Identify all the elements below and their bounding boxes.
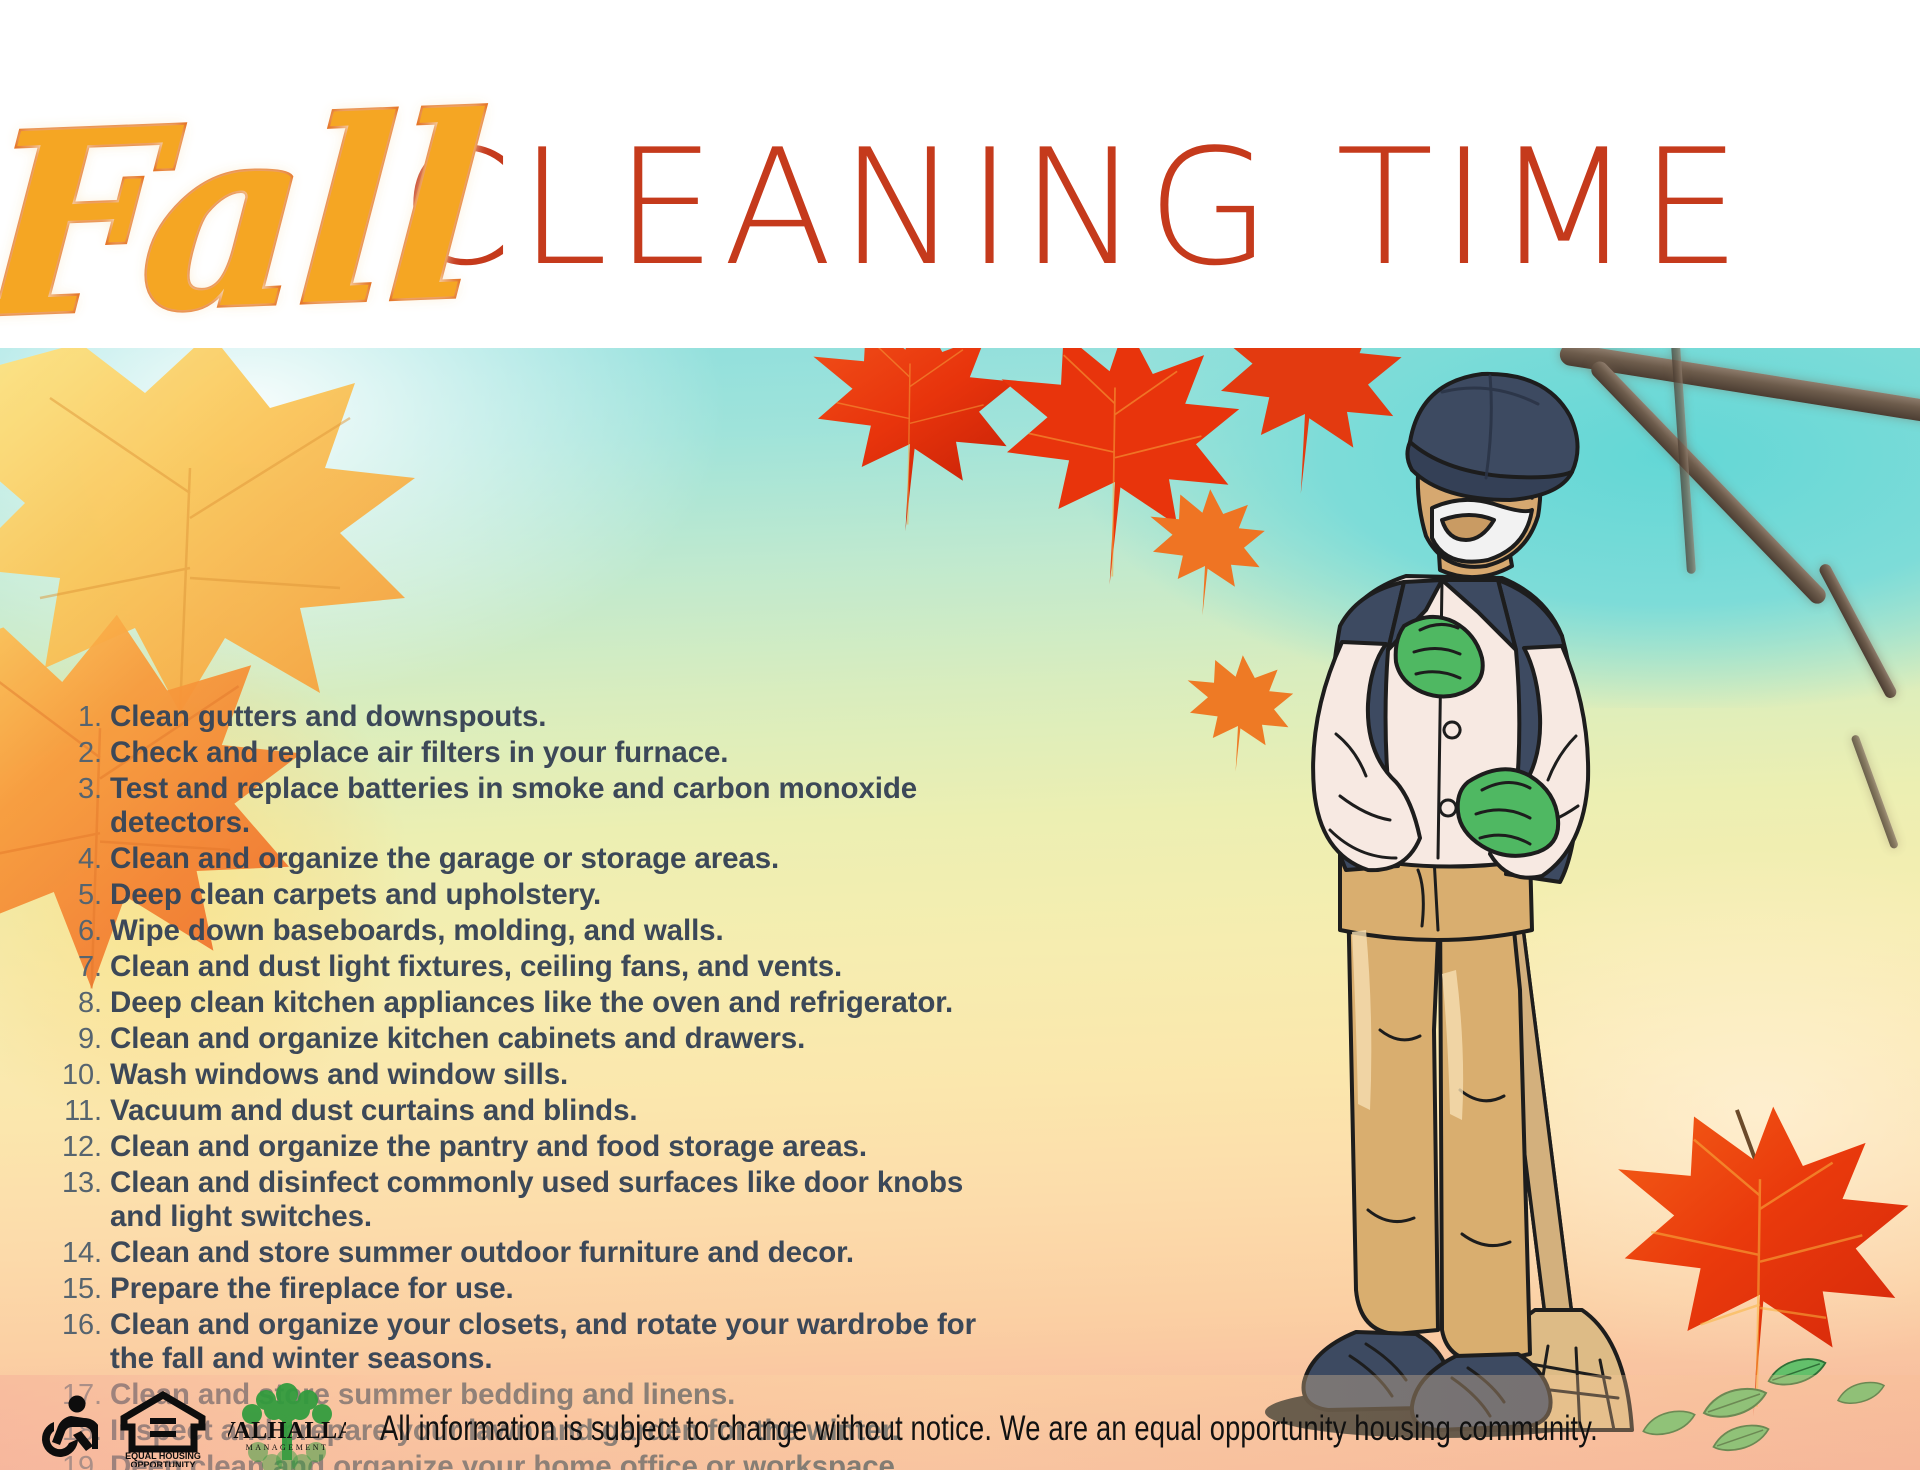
valhalla-wordmark: VALHALLA [228,1418,346,1444]
footer-bar: EQUAL HOUSING OPPORTUNITY [0,1375,1920,1483]
list-item: Clean and dust light fixtures, ceiling f… [52,950,992,984]
fall-cleaning-poster: Clean gutters and downspouts. Check and … [0,0,1920,1483]
list-item: Clean and organize the garage or storage… [52,842,992,876]
list-item: Clean and organize kitchen cabinets and … [52,1022,992,1056]
list-item: Prepare the fireplace for use. [52,1272,992,1306]
page-title-script: Fall [0,83,487,352]
tree-branch-stem-right [1850,734,1899,849]
fall-cleaning-checklist: Clean gutters and downspouts. Check and … [52,700,992,1483]
equal-housing-line2: OPPORTUNITY [130,1460,195,1467]
footer-logos: EQUAL HOUSING OPPORTUNITY [34,1380,346,1478]
list-item: Clean gutters and downspouts. [52,700,992,734]
list-item: Test and replace batteries in smoke and … [52,772,992,840]
list-item: Clean and store summer outdoor furniture… [52,1236,992,1270]
list-item: Deep clean kitchen appliances like the o… [52,986,992,1020]
bottom-white-strip [0,1470,1920,1483]
man-with-broom-illustration [1190,348,1750,1450]
list-item: Clean and disinfect commonly used surfac… [52,1166,992,1234]
list-item: Wipe down baseboards, molding, and walls… [52,914,992,948]
page-title-block: CLEANING TIME [400,128,1748,288]
list-item: Wash windows and window sills. [52,1058,992,1092]
poster-header: CLEANING TIME Fall [0,0,1920,348]
background-gradient: Clean gutters and downspouts. Check and … [0,348,1920,1483]
list-item: Vacuum and dust curtains and blinds. [52,1094,992,1128]
accessibility-icon [34,1395,98,1463]
valhalla-subtitle: MANAGEMENT [246,1443,329,1452]
list-item: Deep clean carpets and upholstery. [52,878,992,912]
footer-disclaimer: All information is subject to change wit… [380,1409,1598,1449]
list-item: Clean and organize the pantry and food s… [52,1130,992,1164]
list-item: Check and replace air filters in your fu… [52,736,992,770]
equal-housing-opportunity-logo: EQUAL HOUSING OPPORTUNITY [120,1391,206,1467]
list-item: Clean and organize your closets, and rot… [52,1308,992,1376]
valhalla-management-logo: VALHALLA MANAGEMENT [228,1380,346,1478]
